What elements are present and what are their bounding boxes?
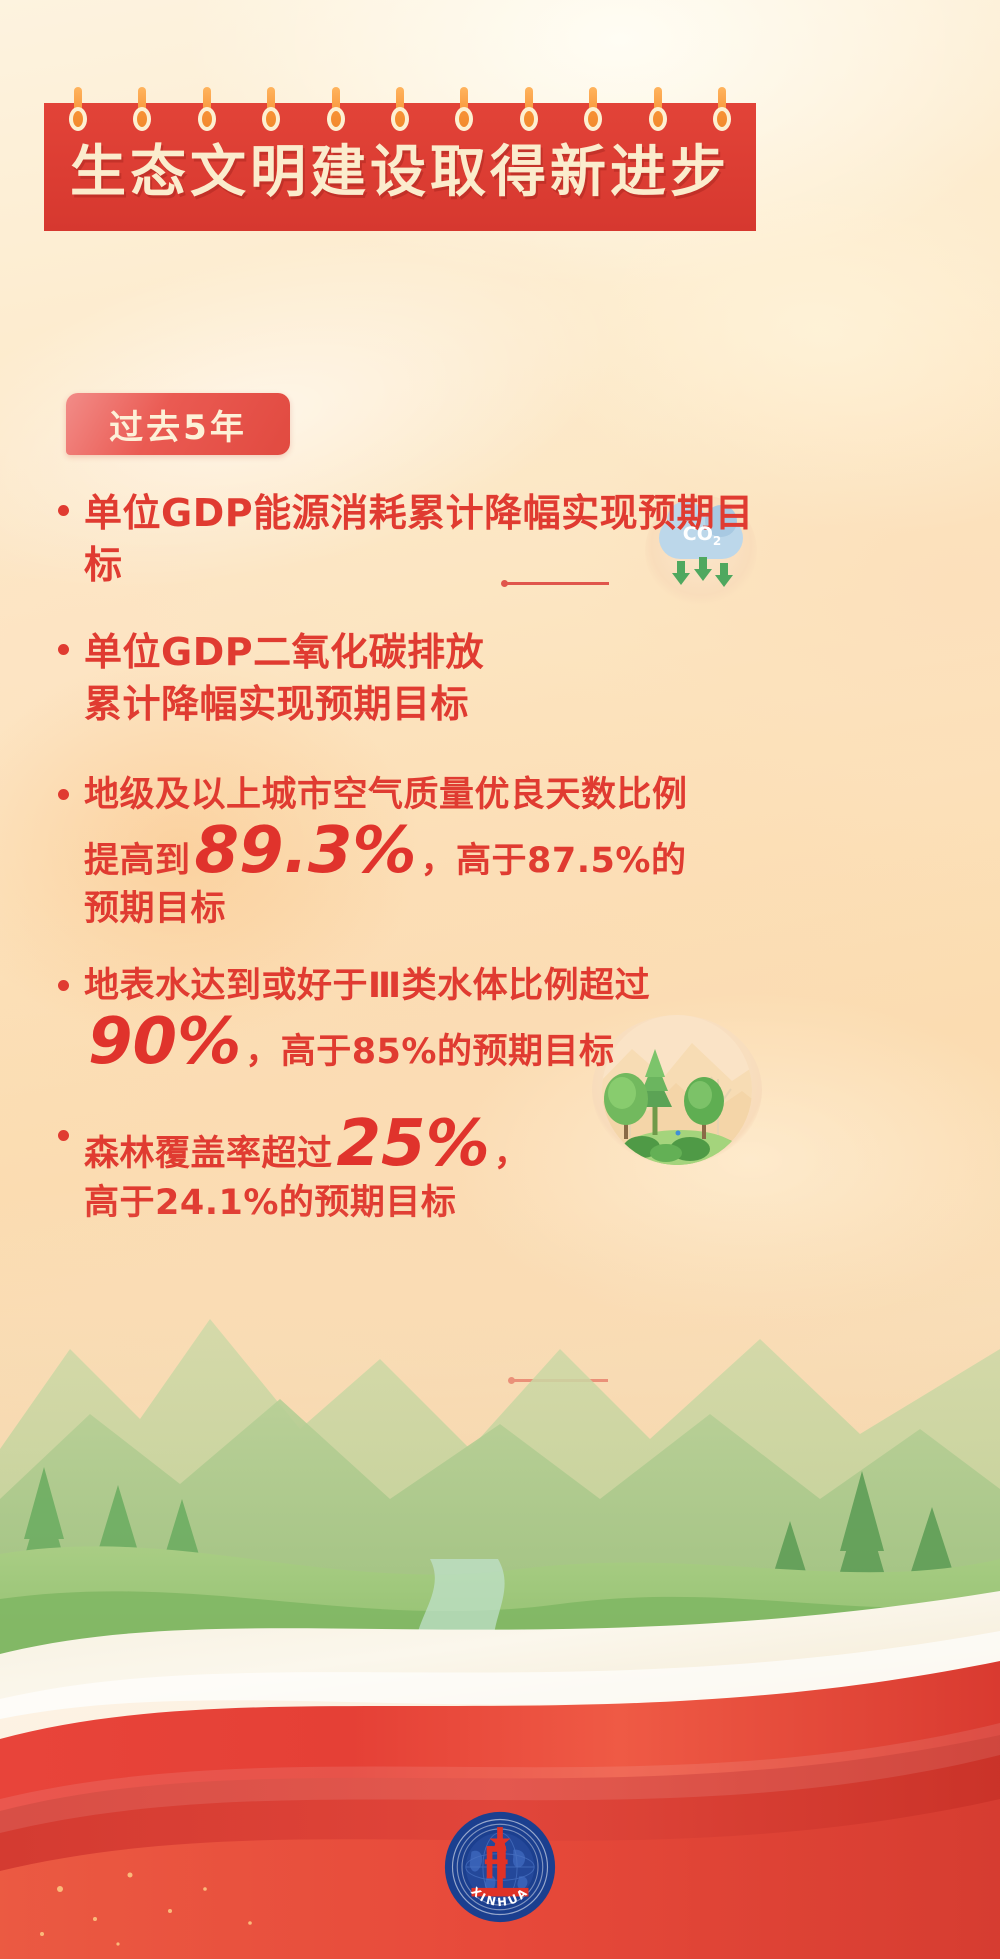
fact-line-with-value: 90% ，高于85%的预期目标 xyxy=(84,1010,784,1076)
fact-line: 地级及以上城市空气质量优良天数比例 xyxy=(84,771,784,819)
fact-co2-emission: 单位GDP二氧化碳排放 累计降幅实现预期目标 xyxy=(44,626,784,731)
bullet-dot-icon xyxy=(58,980,69,991)
fact-line: 累计降幅实现预期目标 xyxy=(84,678,784,730)
fact-line: 预期目标 xyxy=(84,885,784,933)
fact-air-quality: 地级及以上城市空气质量优良天数比例 提高到 89.3% ，高于87.5%的 预期… xyxy=(44,771,784,934)
highlight-value: 89.3% xyxy=(191,819,421,883)
value-prefix: 提高到 xyxy=(84,837,191,885)
period-badge: 过去5年 xyxy=(66,393,290,455)
xinhua-logo[interactable]: XINHUA xyxy=(443,1810,557,1924)
value-suffix: ，高于87.5%的 xyxy=(421,837,687,885)
value-suffix: ，高于85%的预期目标 xyxy=(245,1028,614,1076)
binder-ring xyxy=(393,87,407,131)
co2-label: CO2 xyxy=(671,523,733,548)
poster-root: 生态文明建设取得新进步 过去5年 CO2 xyxy=(0,0,1000,1959)
value-suffix: ， xyxy=(494,1130,530,1178)
binder-ring xyxy=(586,87,600,131)
fact-line-with-value: 提高到 89.3% ，高于87.5%的 xyxy=(84,819,784,885)
binder-ring xyxy=(200,87,214,131)
fact-line: 单位GDP二氧化碳排放 xyxy=(84,626,784,678)
binder-ring xyxy=(651,87,665,131)
binder-rings xyxy=(44,95,756,135)
fact-line: 地表水达到或好于Ⅲ类水体比例超过 xyxy=(84,962,784,1010)
binder-ring xyxy=(457,87,471,131)
binder-ring xyxy=(715,87,729,131)
fact-surface-water: 地表水达到或好于Ⅲ类水体比例超过 90% ，高于85%的预期目标 xyxy=(44,962,784,1077)
value-prefix: 森林覆盖率超过 xyxy=(84,1130,333,1178)
binder-ring xyxy=(264,87,278,131)
bullet-dot-icon xyxy=(58,789,69,800)
co2-subscript: 2 xyxy=(713,534,721,548)
highlight-value: 90% xyxy=(84,1010,245,1074)
facts-list: 单位GDP能源消耗累计降幅实现预期目标 单位GDP二氧化碳排放 累计降幅实现预期… xyxy=(44,487,784,1237)
binder-ring xyxy=(329,87,343,131)
binder-ring xyxy=(522,87,536,131)
bullet-dot-icon xyxy=(58,1130,69,1141)
bullet-dot-icon xyxy=(58,505,69,516)
highlight-value: 25% xyxy=(333,1112,494,1176)
bullet-dot-icon xyxy=(58,644,69,655)
binder-ring xyxy=(71,87,85,131)
fact-line-with-value: 森林覆盖率超过 25% ， xyxy=(84,1112,784,1178)
title-banner: 生态文明建设取得新进步 xyxy=(44,95,756,231)
binder-ring xyxy=(135,87,149,131)
